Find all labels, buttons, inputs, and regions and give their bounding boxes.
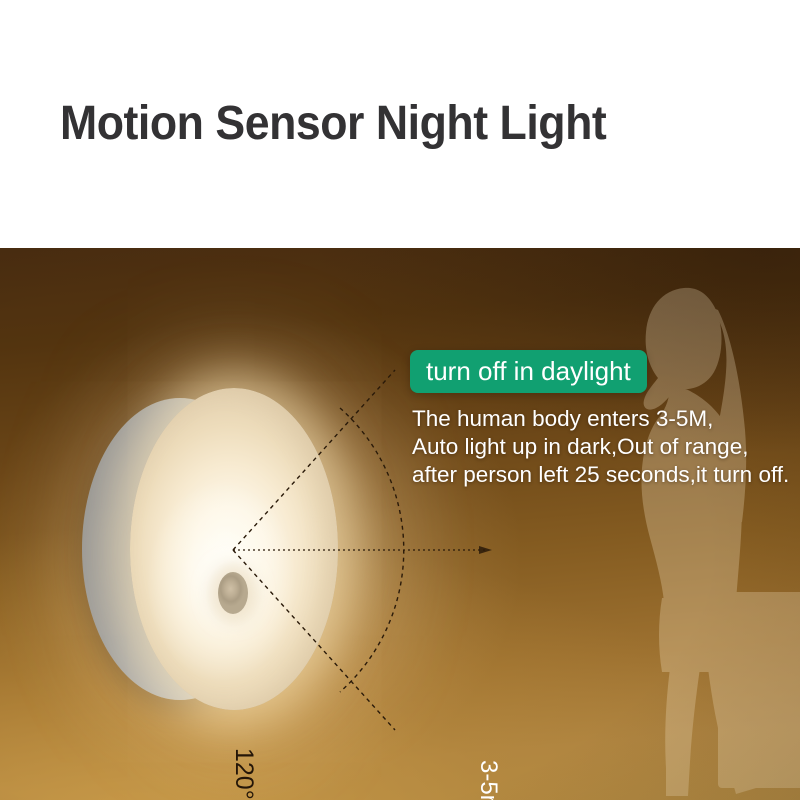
description-line-3: after person left 25 seconds,it turn off… bbox=[412, 461, 800, 489]
product-scene: 120° 3-5m bbox=[0, 248, 800, 800]
detection-angle-label: 120° bbox=[229, 748, 258, 800]
detection-range-label: 3-5m bbox=[474, 760, 502, 800]
range-arrow-head bbox=[479, 546, 492, 554]
feature-description: The human body enters 3-5M, Auto light u… bbox=[412, 405, 800, 489]
detection-range-arc bbox=[340, 408, 404, 692]
round-motion-sensor-night-light bbox=[78, 388, 340, 718]
pir-sensor-dome bbox=[218, 572, 248, 614]
turn-off-in-daylight-badge: turn off in daylight bbox=[410, 350, 647, 393]
description-line-1: The human body enters 3-5M, bbox=[412, 405, 800, 433]
product-feature-graphic: Motion Sensor Night Light bbox=[0, 0, 800, 800]
header-band: Motion Sensor Night Light bbox=[0, 0, 800, 248]
lamp-light-face bbox=[130, 388, 338, 710]
description-line-2: Auto light up in dark,Out of range, bbox=[412, 433, 800, 461]
page-title: Motion Sensor Night Light bbox=[60, 96, 606, 151]
